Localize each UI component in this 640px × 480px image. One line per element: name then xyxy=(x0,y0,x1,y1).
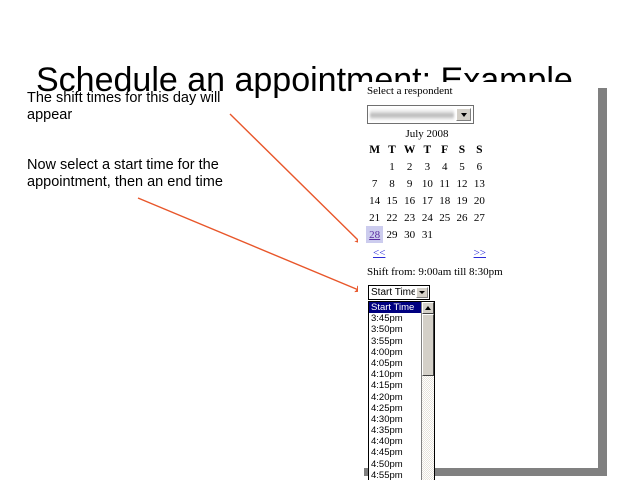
calendar-day[interactable]: 29 xyxy=(383,226,400,243)
calendar-day[interactable]: 24 xyxy=(419,209,436,226)
scrollbar-thumb[interactable] xyxy=(422,314,434,376)
calendar-weekday-header: T xyxy=(383,143,400,158)
calendar-day-link[interactable]: 28 xyxy=(369,229,380,241)
calendar-day-link[interactable]: 8 xyxy=(389,178,395,190)
calendar-day[interactable]: 27 xyxy=(471,209,488,226)
calendar-day-link[interactable]: 5 xyxy=(459,161,465,173)
calendar-day[interactable]: 20 xyxy=(471,192,488,209)
chevron-down-icon[interactable] xyxy=(416,287,428,298)
calendar-day-empty xyxy=(436,226,453,243)
calendar-day-link[interactable]: 6 xyxy=(477,161,483,173)
calendar-day[interactable]: 9 xyxy=(401,175,419,192)
time-option[interactable]: 4:30pm xyxy=(369,414,421,425)
calendar-prev-month-link[interactable]: << xyxy=(373,247,385,259)
start-time-option-list[interactable]: Start Time3:45pm3:50pm3:55pm4:00pm4:05pm… xyxy=(369,302,421,480)
time-option[interactable]: 4:15pm xyxy=(369,380,421,391)
time-option[interactable]: 4:55pm xyxy=(369,470,421,480)
calendar-day[interactable]: 26 xyxy=(453,209,470,226)
calendar-day[interactable]: 22 xyxy=(383,209,400,226)
time-option[interactable]: 4:35pm xyxy=(369,425,421,436)
calendar-weekday-header: T xyxy=(419,143,436,158)
calendar-day-link[interactable]: 25 xyxy=(439,212,450,224)
calendar-day-link[interactable]: 24 xyxy=(422,212,433,224)
calendar-day-link[interactable]: 11 xyxy=(439,178,450,190)
calendar-day-link[interactable]: 18 xyxy=(439,195,450,207)
listbox-scrollbar[interactable] xyxy=(421,302,434,480)
annotation-text-select-start-time: Now select a start time for the appointm… xyxy=(27,157,242,191)
calendar-day[interactable]: 14 xyxy=(366,192,383,209)
calendar-day[interactable]: 3 xyxy=(419,158,436,175)
respondent-select-value xyxy=(370,108,454,121)
calendar-day-link[interactable]: 15 xyxy=(386,195,397,207)
calendar-widget: July 2008 M T W T F S S 1234567891011121… xyxy=(366,128,488,261)
calendar-weekday-header: S xyxy=(471,143,488,158)
calendar-day-link[interactable]: 9 xyxy=(407,178,413,190)
calendar-day-selected[interactable]: 28 xyxy=(366,226,383,243)
calendar-week-row: 21222324252627 xyxy=(366,209,488,226)
calendar-day-link[interactable]: 14 xyxy=(369,195,380,207)
time-option[interactable]: 4:25pm xyxy=(369,403,421,414)
calendar-day-link[interactable]: 29 xyxy=(386,229,397,241)
calendar-day-link[interactable]: 13 xyxy=(474,178,485,190)
time-option[interactable]: 4:10pm xyxy=(369,369,421,380)
calendar-day-link[interactable]: 1 xyxy=(389,161,395,173)
time-option[interactable]: 4:00pm xyxy=(369,347,421,358)
time-option[interactable]: 3:45pm xyxy=(369,313,421,324)
scroll-up-icon[interactable] xyxy=(422,302,434,314)
time-option[interactable]: 4:05pm xyxy=(369,358,421,369)
calendar-day-link[interactable]: 20 xyxy=(474,195,485,207)
calendar-weekday-header: S xyxy=(453,143,470,158)
calendar-day-link[interactable]: 30 xyxy=(404,229,415,241)
calendar-weekday-header: F xyxy=(436,143,453,158)
calendar-day-link[interactable]: 26 xyxy=(457,212,468,224)
calendar-day[interactable]: 23 xyxy=(401,209,419,226)
calendar-day-link[interactable]: 2 xyxy=(407,161,413,173)
calendar-day-link[interactable]: 4 xyxy=(442,161,448,173)
time-option[interactable]: 4:20pm xyxy=(369,392,421,403)
calendar-week-row: 78910111213 xyxy=(366,175,488,192)
calendar-day-link[interactable]: 12 xyxy=(457,178,468,190)
calendar-day[interactable]: 25 xyxy=(436,209,453,226)
time-option[interactable]: 3:55pm xyxy=(369,336,421,347)
calendar-weekday-header: M xyxy=(366,143,383,158)
calendar-day-link[interactable]: 16 xyxy=(404,195,415,207)
scrollbar-track[interactable] xyxy=(422,314,434,480)
time-option-selected[interactable]: Start Time xyxy=(369,302,421,313)
slide: Schedule an appointment: Example The shi… xyxy=(0,0,640,480)
calendar-day[interactable]: 15 xyxy=(383,192,400,209)
start-time-select[interactable]: Start Time xyxy=(368,285,430,300)
time-option[interactable]: 4:40pm xyxy=(369,436,421,447)
calendar-day[interactable]: 5 xyxy=(453,158,470,175)
calendar-day[interactable]: 1 xyxy=(383,158,400,175)
calendar-day[interactable]: 10 xyxy=(419,175,436,192)
calendar-day[interactable]: 31 xyxy=(419,226,436,243)
arrow-to-start-time-combo xyxy=(138,198,361,291)
calendar-day-link[interactable]: 23 xyxy=(404,212,415,224)
calendar-day[interactable]: 19 xyxy=(453,192,470,209)
calendar-day[interactable]: 18 xyxy=(436,192,453,209)
calendar-day-link[interactable]: 17 xyxy=(422,195,433,207)
calendar-next-month-link[interactable]: >> xyxy=(474,247,486,259)
embedded-screenshot-panel: Select a respondent July 2008 M T W T F … xyxy=(358,82,598,468)
start-time-listbox[interactable]: Start Time3:45pm3:50pm3:55pm4:00pm4:05pm… xyxy=(368,301,435,480)
calendar-week-row: 14151617181920 xyxy=(366,192,488,209)
respondent-select[interactable] xyxy=(367,105,474,124)
start-time-select-value: Start Time xyxy=(369,286,415,299)
shift-hours-text: Shift from: 9:00am till 8:30pm xyxy=(367,266,503,278)
calendar-day-link[interactable]: 10 xyxy=(422,178,433,190)
calendar-day-link[interactable]: 22 xyxy=(386,212,397,224)
calendar-day[interactable]: 2 xyxy=(401,158,419,175)
calendar-day[interactable]: 6 xyxy=(471,158,488,175)
calendar-day[interactable]: 12 xyxy=(453,175,470,192)
calendar-day-link[interactable]: 3 xyxy=(425,161,431,173)
calendar-day[interactable]: 8 xyxy=(383,175,400,192)
calendar-day[interactable]: 16 xyxy=(401,192,419,209)
calendar-day-link[interactable]: 7 xyxy=(372,178,378,190)
calendar-weekday-header: W xyxy=(401,143,419,158)
calendar-day[interactable]: 7 xyxy=(366,175,383,192)
time-option[interactable]: 3:50pm xyxy=(369,324,421,335)
calendar-day[interactable]: 30 xyxy=(401,226,419,243)
panel-shadow-right xyxy=(598,88,607,474)
calendar-day-empty xyxy=(453,226,470,243)
annotation-text-shift-times: The shift times for this day will appear xyxy=(27,90,242,124)
calendar-body: 1234567891011121314151617181920212223242… xyxy=(366,158,488,243)
calendar-day[interactable]: 13 xyxy=(471,175,488,192)
respondent-label: Select a respondent xyxy=(367,85,453,97)
calendar-day-link[interactable]: 31 xyxy=(422,229,433,241)
calendar-week-row: 28293031 xyxy=(366,226,488,243)
time-option[interactable]: 4:50pm xyxy=(369,459,421,470)
calendar-weekday-row: M T W T F S S xyxy=(366,143,488,158)
calendar-day-empty xyxy=(471,226,488,243)
calendar-month-label: July 2008 xyxy=(366,128,488,143)
calendar-day-empty xyxy=(366,158,383,175)
chevron-down-icon[interactable] xyxy=(456,108,471,121)
calendar-day[interactable]: 11 xyxy=(436,175,453,192)
arrow-to-calendar-nav xyxy=(230,114,361,243)
calendar-day-link[interactable]: 19 xyxy=(457,195,468,207)
time-option[interactable]: 4:45pm xyxy=(369,447,421,458)
calendar-day[interactable]: 17 xyxy=(419,192,436,209)
calendar-day[interactable]: 4 xyxy=(436,158,453,175)
calendar-grid: M T W T F S S 12345678910111213141516171… xyxy=(366,143,488,243)
calendar-day[interactable]: 21 xyxy=(366,209,383,226)
calendar-day-link[interactable]: 27 xyxy=(474,212,485,224)
calendar-week-row: 123456 xyxy=(366,158,488,175)
calendar-navigation: << >> xyxy=(366,247,488,261)
calendar-day-link[interactable]: 21 xyxy=(369,212,380,224)
